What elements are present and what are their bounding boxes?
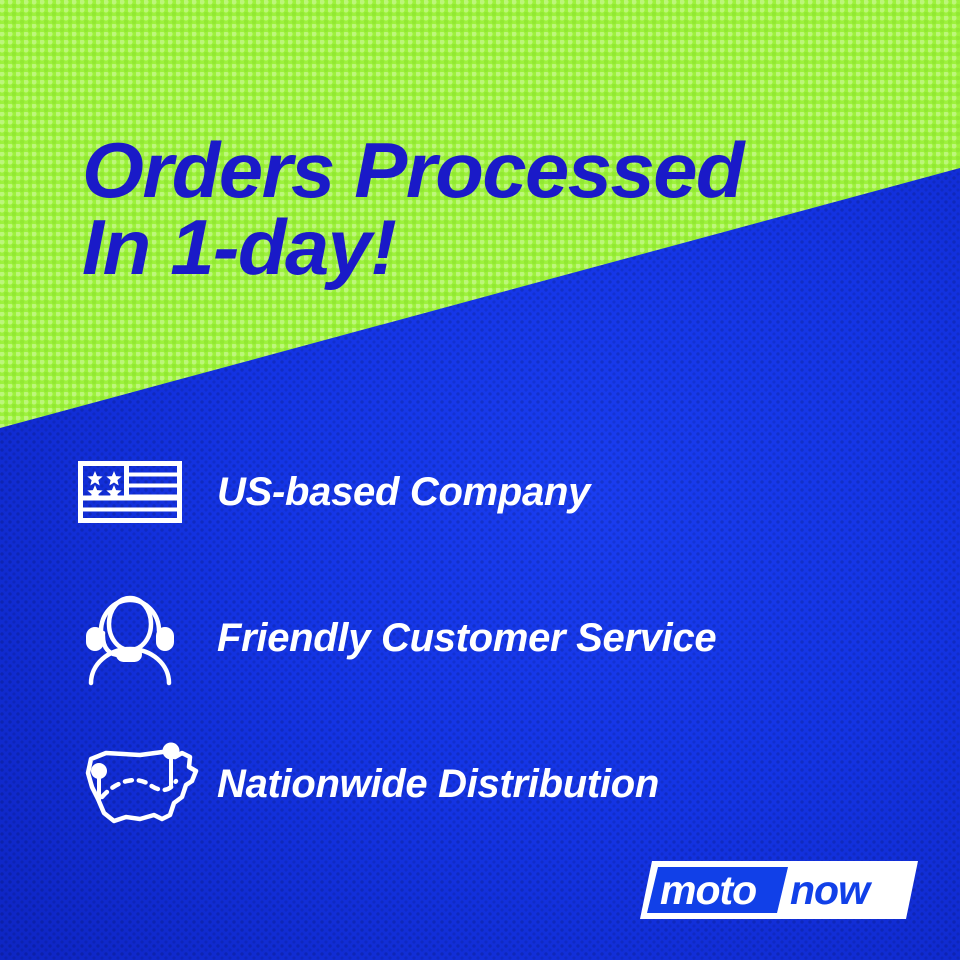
usa-map-route-icon [70,741,205,827]
headline: Orders Processed In 1-day! [82,56,939,362]
headline-line-2: In 1-day! [82,209,939,285]
promotional-banner: Orders Processed In 1-day! [0,0,960,960]
us-flag-icon [70,461,205,523]
feature-item-customer-service: Friendly Customer Service [70,584,930,692]
logo-word-moto: moto [660,867,756,913]
logo-word-now: now [790,867,873,913]
headset-support-icon [70,589,205,687]
headline-line-1: Orders Processed [82,126,743,214]
feature-label-customer-service: Friendly Customer Service [217,616,716,661]
feature-item-us-based: US-based Company [70,438,930,546]
feature-list: US-based Company [70,438,930,876]
feature-label-us-based: US-based Company [217,470,590,515]
feature-label-nationwide-distribution: Nationwide Distribution [217,762,659,807]
motonow-logo[interactable]: moto now [640,861,918,919]
feature-item-nationwide-distribution: Nationwide Distribution [70,730,930,838]
